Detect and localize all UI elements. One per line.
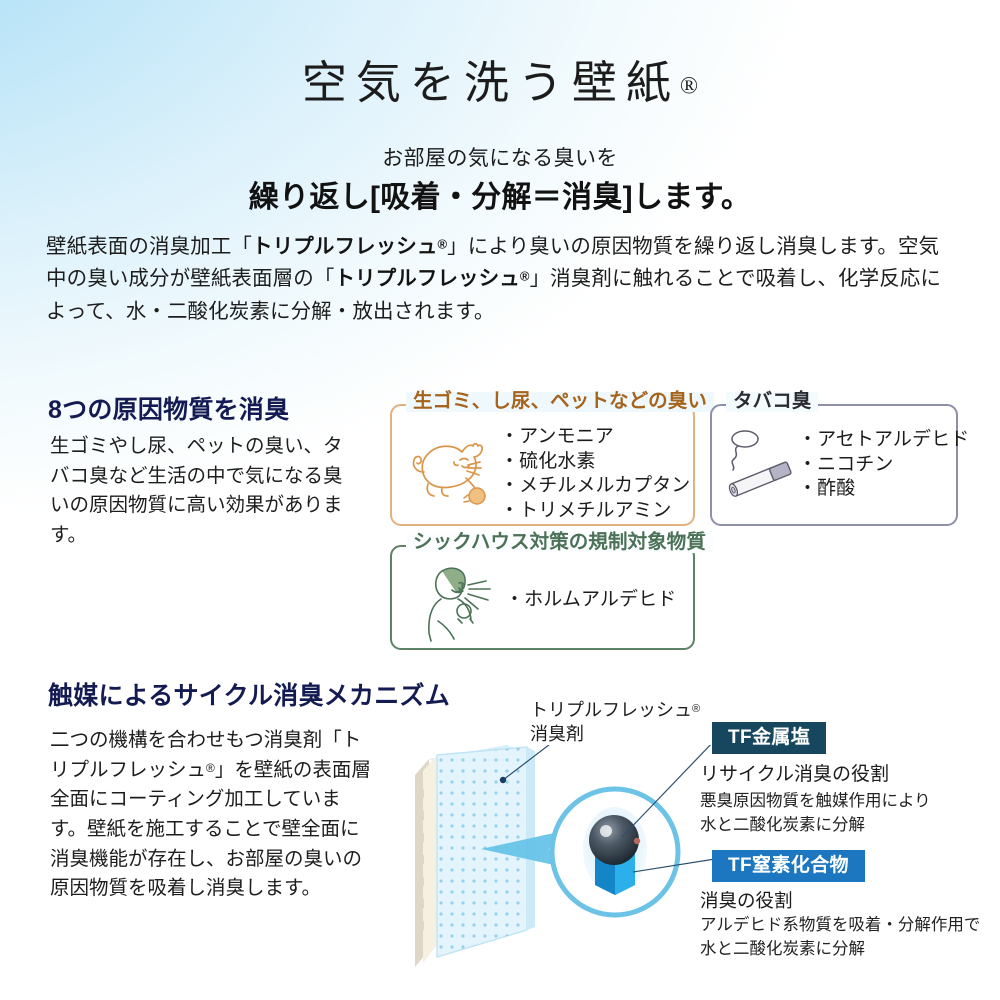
list-item: ・アセトアルデヒド	[798, 428, 969, 453]
diagram-caption: トリプルフレッシュ® 消臭剤	[530, 698, 700, 746]
callout-role-line-2: 水と二酸化炭素に分解	[700, 938, 980, 962]
callout-role-title: 消臭の役割	[700, 889, 980, 914]
callout-role-line-1: 悪臭原因物質を触媒作用により	[700, 790, 931, 814]
section-copy-substances: 生ゴミやし尿、ペットの臭い、タバコ臭など生活の中で気になる臭いの原因物質に高い効…	[50, 432, 350, 551]
callout-tf-metal-salt: リサイクル消臭の役割 悪臭原因物質を触媒作用により 水と二酸化炭素に分解	[700, 762, 931, 838]
callout-tf-nitrogen-compound: 消臭の役割 アルデヒド系物質を吸着・分解作用で 水と二酸化炭素に分解	[700, 889, 980, 961]
intro-part-1: 壁紙表面の消臭加工「	[46, 235, 252, 258]
lead-line-1: お部屋の気になる臭いを	[0, 142, 1000, 172]
section-heading-mechanism: 触媒によるサイクル消臭メカニズム	[48, 676, 450, 712]
diagram-caption-brand: トリプルフレッシュ	[530, 700, 692, 720]
odor-box-tobacco-legend: タバコ臭	[726, 392, 818, 412]
callout-role-title: リサイクル消臭の役割	[700, 762, 931, 787]
odor-box-kitchen-items: ・アンモニア ・硫化水素 ・メチルメルカプタン ・トリメチルアミン	[500, 425, 690, 524]
odor-box-tobacco-items: ・アセトアルデヒド ・ニコチン ・酢酸	[798, 428, 969, 502]
registered-mark-icon: ®	[520, 269, 530, 284]
page-title-text: 空気を洗う壁紙	[302, 58, 680, 108]
brand-name-2: トリプルフレッシュ	[334, 267, 519, 290]
odor-box-kitchen-legend: 生ゴミ、し尿、ペットなどの臭い	[406, 392, 714, 412]
list-item: ・ホルムアルデヒド	[505, 588, 676, 613]
list-item: ・硫化水素	[500, 450, 690, 475]
list-item: ・ニコチン	[798, 453, 969, 478]
lead-line-2: 繰り返し[吸着・分解＝消臭]します。	[0, 172, 1000, 216]
list-item: ・メチルメルカプタン	[500, 474, 690, 499]
brand-name-1: トリプルフレッシュ	[252, 235, 437, 258]
registered-mark-icon: ®	[206, 760, 215, 774]
badge-tf-nitrogen-compound: TF窒素化合物	[712, 850, 865, 882]
odor-box-sick-house-legend: シックハウス対策の規制対象物質	[406, 533, 713, 553]
cat-icon	[404, 432, 496, 512]
registered-mark-icon: ®	[680, 74, 698, 100]
list-item: ・トリメチルアミン	[500, 499, 690, 524]
badge-tf-metal-salt: TF金属塩	[712, 722, 826, 754]
callout-role-line-2: 水と二酸化炭素に分解	[700, 814, 931, 838]
list-item: ・酢酸	[798, 477, 969, 502]
mech-copy-part-1: 二つの機構を合わせもつ消臭剤「	[50, 729, 342, 751]
odor-box-sick-house-items: ・ホルムアルデヒド	[505, 588, 676, 613]
registered-mark-icon: ®	[437, 236, 447, 251]
registered-mark-icon: ®	[692, 703, 700, 715]
coughing-person-icon	[418, 563, 504, 645]
infographic-page: 空気を洗う壁紙® お部屋の気になる臭いを 繰り返し[吸着・分解＝消臭]します。 …	[0, 0, 1000, 1000]
callout-role-line-1: アルデヒド系物質を吸着・分解作用で	[700, 914, 980, 938]
list-item: ・アンモニア	[500, 425, 690, 450]
cigarette-icon	[722, 428, 800, 498]
wallpaper-cross-section-illustration	[415, 745, 715, 970]
section-heading-substances: 8つの原因物質を消臭	[48, 390, 289, 426]
intro-paragraph: 壁紙表面の消臭加工「トリプルフレッシュ®」により臭いの原因物質を繰り返し消臭しま…	[46, 231, 956, 328]
section-copy-mechanism: 二つの機構を合わせもつ消臭剤「トリプルフレッシュ®」を壁紙の表面層全面にコーティ…	[50, 726, 372, 904]
diagram-caption-line-2: 消臭剤	[530, 722, 700, 746]
page-title: 空気を洗う壁紙®	[0, 46, 1000, 111]
